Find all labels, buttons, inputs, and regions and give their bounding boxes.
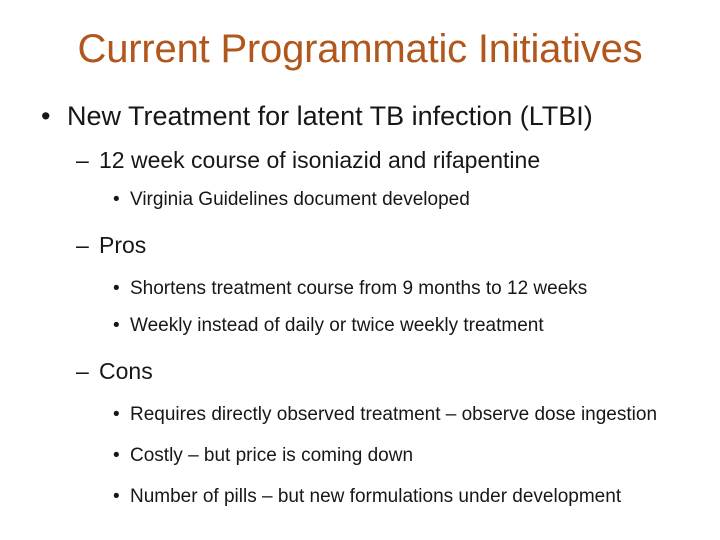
bullet-text: Shortens treatment course from 9 months … [130,275,675,302]
spacer [0,432,720,442]
bullet-text: Costly – but price is coming down [130,442,675,469]
bullet-text: Weekly instead of daily or twice weekly … [130,312,675,339]
bullet-item-level3: • Virginia Guidelines document developed [0,186,720,213]
bullet-text: New Treatment for latent TB infection (L… [67,100,667,133]
slide-body: • New Treatment for latent TB infection … [0,100,720,514]
presentation-slide: Current Programmatic Initiatives • New T… [0,0,720,540]
bullet-text: Pros [99,230,679,260]
bullet-dot-icon: • [113,275,130,302]
bullet-item-level3: • Weekly instead of daily or twice weekl… [0,312,720,339]
bullet-item-level1: • New Treatment for latent TB infection … [0,100,720,133]
spacer [0,217,720,230]
bullet-dot-icon: • [113,442,130,469]
spacer [0,473,720,483]
bullet-item-level3: • Requires directly observed treatment –… [0,401,720,428]
spacer [0,343,720,356]
bullet-dot-icon: • [113,312,130,339]
bullet-item-level2: – Cons [0,356,720,386]
bullet-dash-icon: – [76,230,99,260]
bullet-text: Requires directly observed treatment – o… [130,401,675,428]
bullet-item-level3: • Number of pills – but new formulations… [0,483,720,510]
bullet-dash-icon: – [76,145,99,175]
bullet-text: Number of pills – but new formulations u… [130,483,675,510]
bullet-dot-icon: • [41,100,67,133]
bullet-item-level3: • Shortens treatment course from 9 month… [0,275,720,302]
bullet-dot-icon: • [113,186,130,213]
bullet-text: 12 week course of isoniazid and rifapent… [99,145,679,175]
bullet-item-level2: – Pros [0,230,720,260]
bullet-dot-icon: • [113,401,130,428]
bullet-dash-icon: – [76,356,99,386]
bullet-dot-icon: • [113,483,130,510]
bullet-text: Cons [99,356,679,386]
bullet-item-level2: – 12 week course of isoniazid and rifape… [0,145,720,175]
bullet-text: Virginia Guidelines document developed [130,186,675,213]
page-title: Current Programmatic Initiatives [30,26,690,72]
spacer [0,265,720,275]
bullet-item-level3: • Costly – but price is coming down [0,442,720,469]
spacer [0,391,720,401]
